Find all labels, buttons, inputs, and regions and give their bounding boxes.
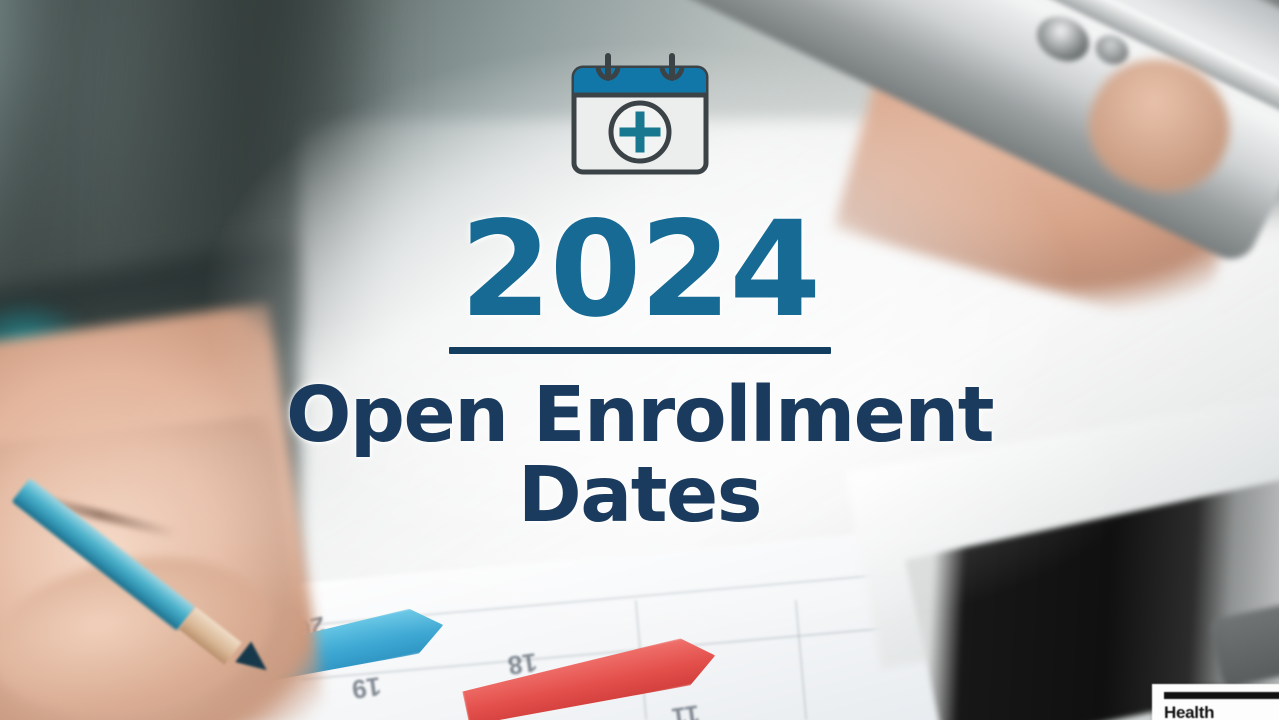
year-heading: 2024 xyxy=(460,210,819,331)
hero-content: 2024 Open Enrollment Dates xyxy=(0,0,1279,720)
page-title: Open Enrollment Dates xyxy=(286,376,993,535)
year-underline-rule xyxy=(449,347,831,354)
headline-line-1: Open Enrollment xyxy=(286,371,993,460)
calendar-plus-icon xyxy=(564,52,716,182)
poster-canvas: 26 19 18 11 Health xyxy=(0,0,1279,720)
headline-line-2: Dates xyxy=(286,456,993,535)
